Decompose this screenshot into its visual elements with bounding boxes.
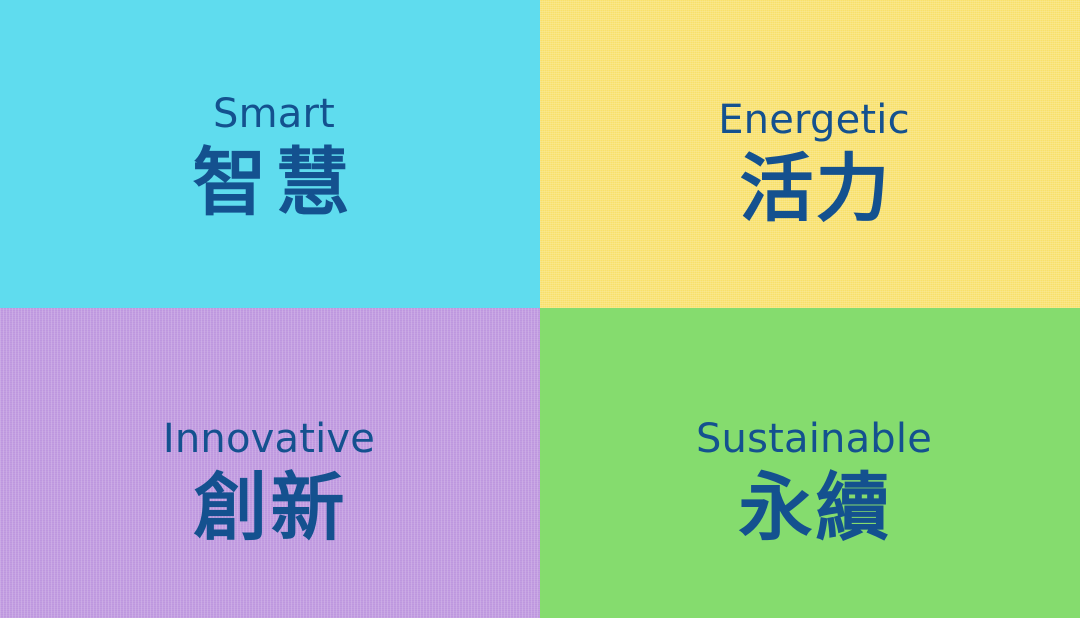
label-block-sustainable: Sustainable 永續 xyxy=(696,419,932,547)
label-block-innovative: Innovative 創新 xyxy=(163,419,375,547)
quadrant-innovative: Innovative 創新 xyxy=(0,308,540,618)
quadrant-sustainable: Sustainable 永續 xyxy=(540,308,1080,618)
label-chinese-sustainable: 永續 xyxy=(735,470,892,547)
label-chinese-innovative: 創新 xyxy=(190,470,347,547)
quadrant-energetic: Energetic 活力 xyxy=(540,0,1080,308)
label-block-smart: Smart 智慧 xyxy=(190,94,359,222)
label-chinese-smart: 智慧 xyxy=(190,145,359,222)
label-block-energetic: Energetic 活力 xyxy=(718,100,910,228)
quadrant-smart: Smart 智慧 xyxy=(0,0,540,308)
label-english-energetic: Energetic xyxy=(718,100,910,140)
brand-values-grid: Smart 智慧 Energetic 活力 Innovative 創新 Sust… xyxy=(0,0,1080,618)
label-chinese-energetic: 活力 xyxy=(736,151,891,228)
label-english-sustainable: Sustainable xyxy=(696,419,932,459)
label-english-smart: Smart xyxy=(213,94,335,134)
label-english-innovative: Innovative xyxy=(163,419,375,459)
